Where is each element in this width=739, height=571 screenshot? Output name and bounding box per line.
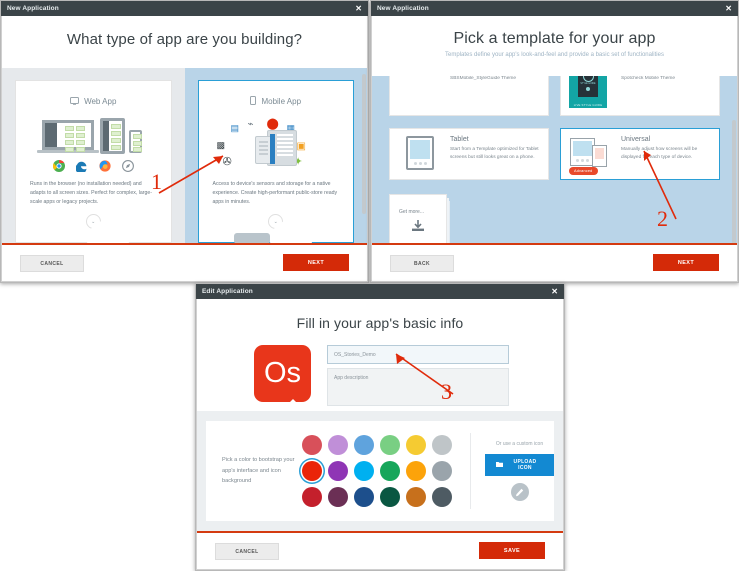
color-swatch[interactable] (406, 487, 426, 507)
template-row-clipped: Starter App Template Module based on SBS… (372, 76, 737, 116)
color-swatch-grid (302, 435, 452, 507)
color-swatch-selected[interactable] (302, 461, 322, 481)
color-swatch[interactable] (328, 461, 348, 481)
edit-application-basic-info-dialog: Edit Application ✕ Fill in your app's ba… (195, 283, 565, 571)
save-button[interactable]: SAVE (479, 542, 545, 559)
cancel-button[interactable]: CANCEL (215, 543, 279, 560)
page-title: Pick a template for your app (372, 16, 737, 48)
divider (470, 433, 471, 509)
pencil-icon[interactable] (511, 483, 529, 501)
template-art (398, 76, 442, 108)
custom-icon-section: Or use a custom icon UPLOAD ICON (485, 441, 554, 501)
color-swatch[interactable] (354, 461, 374, 481)
safari-icon (122, 159, 134, 171)
template-card-spotcheck[interactable]: STYLE GUIDE LIVE STYLE GUIDE Starter App… (560, 76, 720, 116)
color-swatch[interactable] (302, 487, 322, 507)
card-mobile-app-title: Mobile App (261, 97, 301, 106)
wifi-off-icon: ⌁ (248, 120, 254, 130)
color-swatch[interactable] (432, 435, 452, 455)
dialog-footer: BACK NEXT (372, 243, 737, 281)
chrome-icon (53, 159, 65, 171)
card-web-app-title: Web App (84, 97, 116, 106)
folder-icon (496, 461, 503, 469)
camera-icon: ▣ (297, 142, 306, 152)
template-art (398, 136, 442, 172)
close-icon[interactable]: ✕ (725, 5, 732, 13)
annotation-label-2: 2 (657, 206, 668, 232)
page-subtitle: Templates define your app's look-and-fee… (372, 48, 737, 58)
back-button[interactable]: BACK (390, 255, 454, 272)
window-title: Edit Application (202, 288, 551, 295)
color-swatch[interactable] (406, 435, 426, 455)
card-web-app-header: Web App (16, 81, 171, 110)
card-mobile-app-header: Mobile App (199, 81, 354, 110)
dialog-footer: CANCEL NEXT (2, 243, 367, 281)
edge-icon (76, 159, 88, 171)
template-description: Start from a Template optimized for Tabl… (450, 146, 540, 162)
laptop-illustration (42, 120, 94, 154)
location-pin-icon: ⬤ (267, 119, 279, 130)
style-guide-art: STYLE GUIDE LIVE STYLE GUIDE (569, 76, 607, 108)
template-description: Starter App Template Module based on SBS… (450, 76, 540, 83)
swatch-row (302, 487, 452, 507)
browser-icons (16, 159, 171, 171)
tablet-illustration (100, 118, 125, 154)
card-web-app-description: Runs in the browser (no installation nee… (16, 180, 171, 207)
new-application-template-dialog: New Application ✕ Pick a template for yo… (370, 0, 739, 283)
calendar-icon: ▤ (231, 124, 240, 133)
get-more-label: Get more... (390, 195, 446, 215)
app-icon-preview: Os (254, 345, 311, 402)
phone-illustration (129, 130, 142, 153)
qr-code-icon: ▩ (217, 141, 226, 150)
swatch-row (302, 435, 452, 455)
window-title: New Application (7, 5, 355, 12)
custom-icon-hint: Or use a custom icon (485, 441, 554, 447)
close-icon[interactable]: ✕ (355, 5, 362, 13)
titlebar: New Application ✕ (371, 1, 738, 16)
advanced-badge: Advanced (569, 167, 598, 175)
upload-icon-label: UPLOAD ICON (507, 459, 543, 471)
annotation-arrow-2 (636, 141, 716, 231)
color-swatch[interactable] (302, 435, 322, 455)
template-card-tablet[interactable]: Tablet Start from a Template optimized f… (389, 128, 549, 180)
tablet-icon (406, 136, 434, 170)
card-web-app-art (16, 114, 171, 176)
titlebar: New Application ✕ (1, 1, 368, 16)
new-application-app-type-dialog: New Application ✕ What type of app are y… (0, 0, 369, 283)
color-swatch[interactable] (328, 435, 348, 455)
color-swatch[interactable] (354, 435, 374, 455)
swatch-row (302, 461, 452, 481)
cancel-button[interactable]: CANCEL (20, 255, 84, 272)
template-art: STYLE GUIDE LIVE STYLE GUIDE (569, 76, 613, 108)
download-icon (390, 219, 446, 235)
next-button[interactable]: NEXT (653, 254, 719, 271)
panel-notch (285, 399, 301, 407)
card-web-app[interactable]: Web App (15, 80, 172, 243)
color-swatch[interactable] (406, 461, 426, 481)
get-more-card[interactable]: Get more... (389, 194, 447, 243)
scrollbar[interactable] (362, 74, 366, 214)
color-swatch[interactable] (380, 435, 400, 455)
color-swatch[interactable] (380, 461, 400, 481)
upload-icon-button[interactable]: UPLOAD ICON (485, 454, 554, 476)
color-swatch[interactable] (354, 487, 374, 507)
universal-icon: Advanced (570, 136, 612, 172)
template-art: Advanced (569, 136, 613, 172)
window-title: New Application (377, 5, 725, 12)
page-title: Fill in your app's basic info (197, 299, 563, 331)
dialog-body: Fill in your app's basic info Os OS_Stor… (196, 299, 564, 570)
firefox-icon (99, 159, 111, 171)
monitor-icon (70, 92, 79, 110)
titlebar: Edit Application ✕ (196, 284, 564, 299)
template-name: Tablet (450, 136, 540, 143)
annotation-label-1: 1 (151, 169, 162, 195)
template-art-label: LIVE STYLE GUIDE (569, 103, 607, 107)
dialog-body: What type of app are you building? Web A… (1, 16, 368, 282)
color-swatch[interactable] (432, 487, 452, 507)
color-picker-panel: Pick a color to bootstrap your app's int… (197, 411, 563, 531)
scrollbar[interactable] (732, 120, 736, 243)
phone-icon (250, 92, 256, 110)
annotation-label-3: 3 (441, 379, 452, 405)
color-swatch[interactable] (328, 487, 348, 507)
next-button[interactable]: NEXT (283, 254, 349, 271)
color-swatch[interactable] (380, 487, 400, 507)
color-hint-text: Pick a color to bootstrap your app's int… (206, 455, 302, 488)
color-swatch[interactable] (432, 461, 452, 481)
annotation-arrow-1 (151, 151, 261, 211)
template-description: Starter App Template Module based on Spo… (621, 76, 711, 83)
template-card-sbsmobile[interactable]: Starter App Template Module based on SBS… (389, 76, 549, 116)
dialog-footer: CANCEL SAVE (197, 531, 563, 569)
page-title: What type of app are you building? (2, 16, 367, 48)
close-icon[interactable]: ✕ (551, 288, 558, 296)
app-identity-row: Os OS_Stories_Demo App description (197, 331, 563, 406)
